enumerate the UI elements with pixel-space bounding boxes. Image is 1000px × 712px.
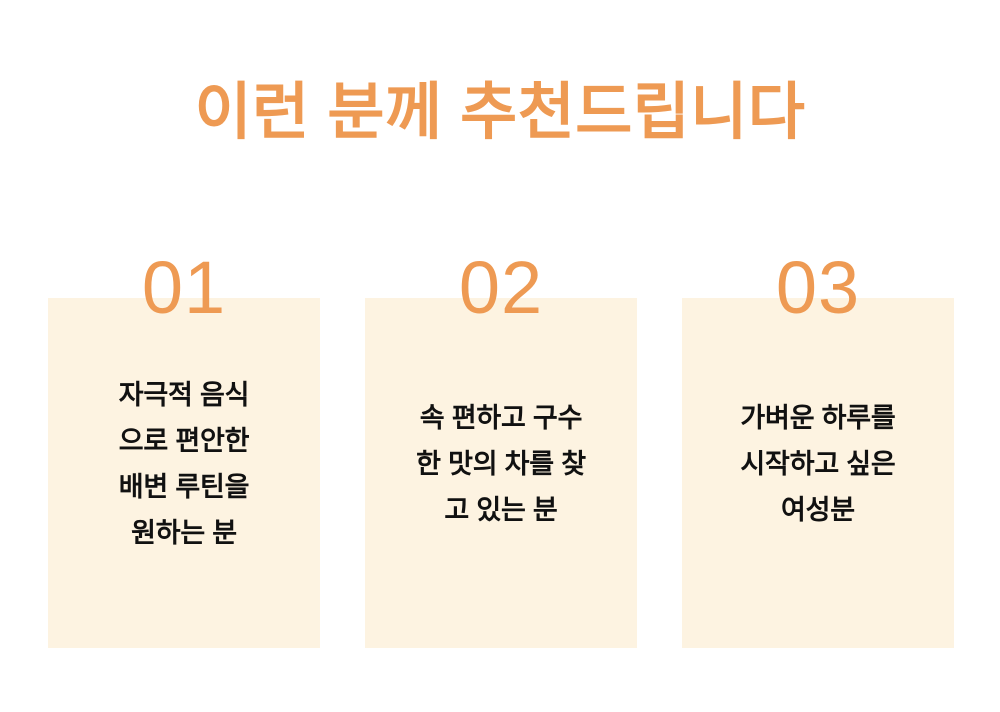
card-body-text: 자극적 음식 으로 편안한 배변 루틴을 원하는 분 <box>60 372 308 556</box>
benefit-card: 03 가벼운 하루를 시작하고 싶은 여성분 <box>682 298 954 648</box>
benefit-card: 02 속 편하고 구수 한 맛의 차를 찾 고 있는 분 <box>365 298 637 648</box>
benefit-card-list: 01 자극적 음식 으로 편안한 배변 루틴을 원하는 분 02 속 편하고 구… <box>48 298 954 648</box>
benefit-card: 01 자극적 음식 으로 편안한 배변 루틴을 원하는 분 <box>48 298 320 648</box>
card-body-text: 속 편하고 구수 한 맛의 차를 찾 고 있는 분 <box>377 395 625 533</box>
card-number-badge: 03 <box>682 251 954 325</box>
card-body-text: 가벼운 하루를 시작하고 싶은 여성분 <box>694 395 942 533</box>
card-number-badge: 01 <box>48 251 320 325</box>
promo-slide: 이런 분께 추천드립니다 01 자극적 음식 으로 편안한 배변 루틴을 원하는… <box>0 0 1000 712</box>
page-title: 이런 분께 추천드립니다 <box>0 77 1000 148</box>
card-number-badge: 02 <box>365 251 637 325</box>
